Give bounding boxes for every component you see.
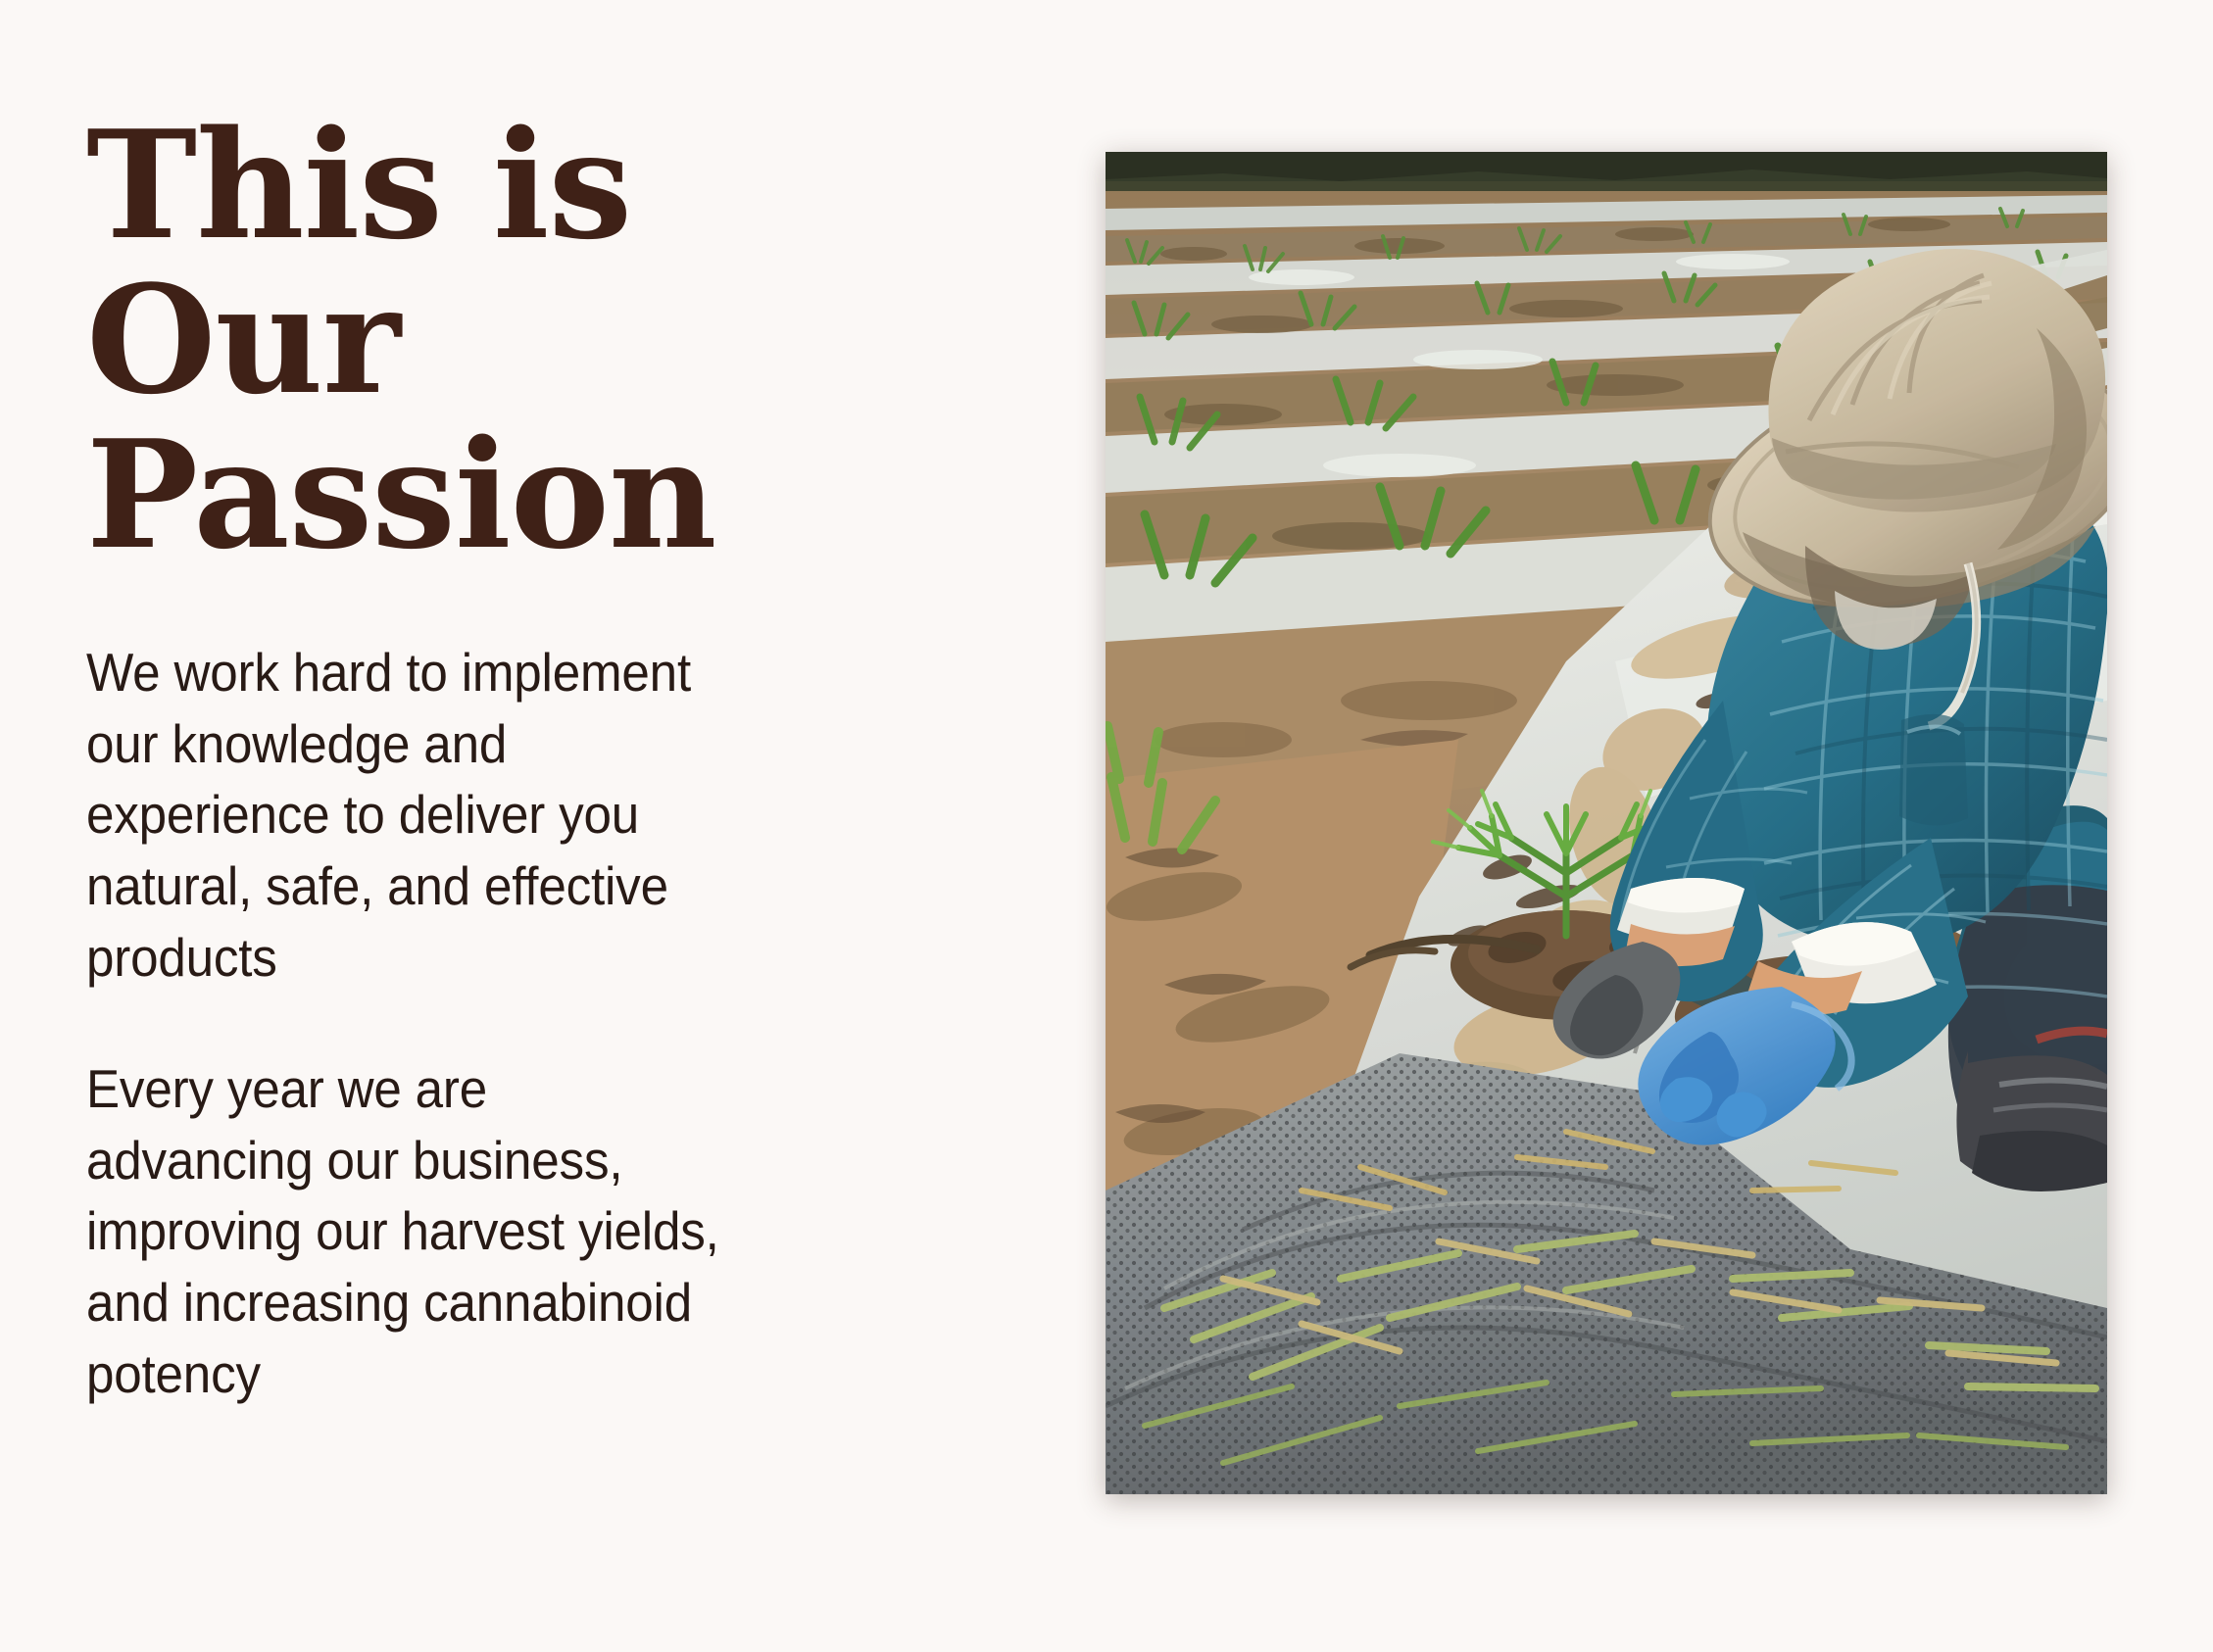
slide-root: This is Our Passion We work hard to impl… bbox=[0, 0, 2213, 1652]
body-paragraph-2: Every year we are advancing our business… bbox=[86, 1053, 724, 1409]
field-photo-artwork bbox=[1106, 152, 2107, 1494]
field-photo bbox=[1106, 152, 2107, 1494]
body-paragraph-1: We work hard to implement our knowledge … bbox=[86, 637, 724, 993]
page-title: This is Our Passion bbox=[86, 108, 1057, 572]
text-column: This is Our Passion We work hard to impl… bbox=[86, 108, 1057, 1409]
body-copy-block: We work hard to implement our knowledge … bbox=[86, 637, 772, 1409]
